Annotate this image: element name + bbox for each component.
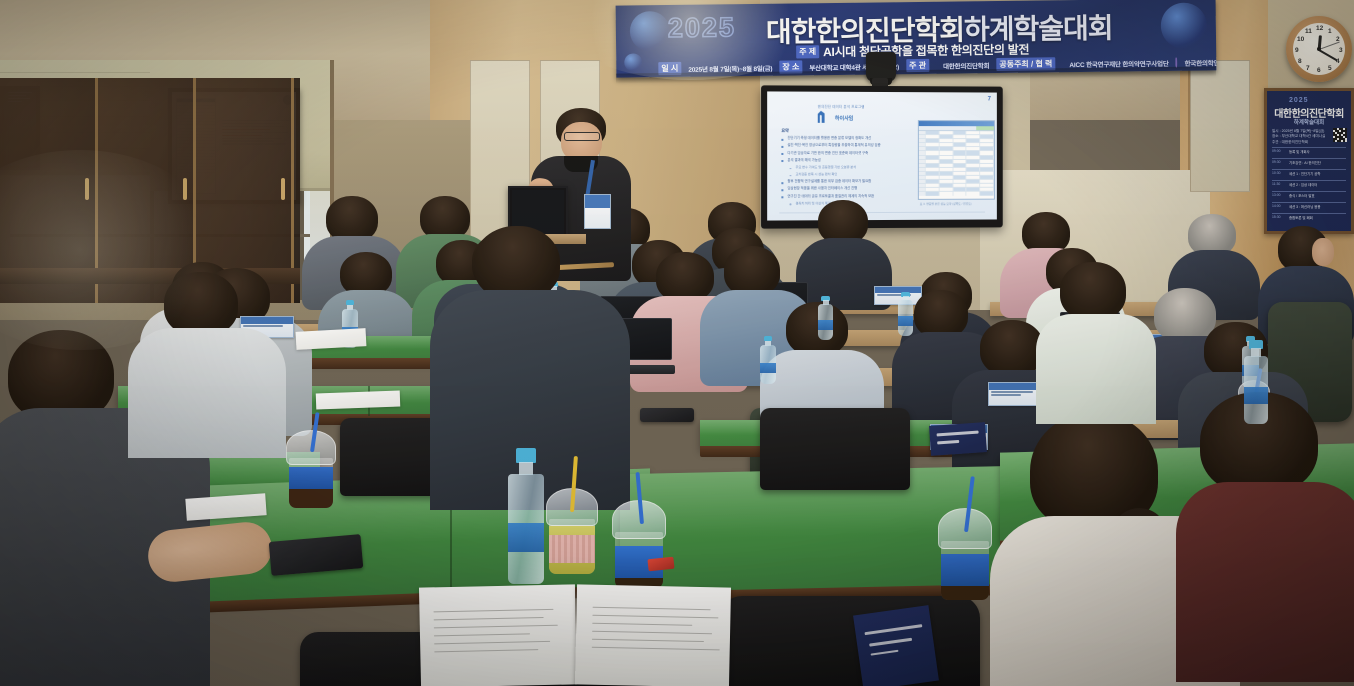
placard-text — [243, 325, 283, 327]
cup-body — [289, 458, 333, 508]
slide-brand-label: 하이사임 — [835, 115, 853, 122]
banner-bubble-small — [624, 53, 642, 71]
slide-eyebrow: 한의진단 데이터 분석 프로그램 — [818, 104, 865, 109]
clock-numeral: 10 — [1297, 36, 1304, 43]
presenter-name-badge — [584, 194, 611, 229]
booklet-title-bar — [865, 624, 923, 635]
poster-row-item: 기조강연 : AI 한의진단 — [1289, 160, 1321, 165]
booklet-title-bar — [937, 440, 960, 445]
water-bottle-foreground[interactable] — [508, 448, 544, 584]
slide-bullet: 임상현장 적용을 위한 사용자 인터페이스 개선 진행 — [781, 186, 902, 191]
clock-numeral: 5 — [1328, 65, 1332, 72]
slide-bullet: 분석 결과의 해석 가능성 — [781, 158, 902, 163]
clock-face: 12 1 2 3 4 5 6 7 8 9 10 11 — [1293, 23, 1345, 75]
attendee-shirt — [128, 328, 286, 458]
slide-heading: 요약 — [781, 128, 788, 134]
banner-bubble-left — [630, 11, 670, 51]
presentation-slide: 7 한의진단 데이터 분석 프로그램 하이사임 요약 진단기기 측정 데이터를 … — [767, 91, 997, 220]
poster-program-row: 09:00 등록 및 개회사 — [1272, 147, 1346, 155]
cup-sleeve — [941, 554, 989, 586]
clock-numeral: 1 — [1328, 28, 1332, 35]
slide-bullet: 향후 전향적 연구설계를 통한 외부 검증 데이터 확보가 필요함 — [781, 179, 902, 184]
poster-row-item: 세션 3 : 머신러닝 응용 — [1289, 204, 1321, 209]
slide-footer-rule — [779, 211, 985, 212]
clock-numeral: 11 — [1305, 28, 1312, 35]
poster-row-time: 09:30 — [1272, 160, 1281, 164]
poster-program-row: 15:30 종합토론 및 폐회 — [1272, 213, 1346, 221]
slide-bullet: 진단기기 측정 데이터를 활용한 변증 분류 모델의 정확도 개선 — [781, 136, 902, 141]
poster-subtitle: 하계학술대회 — [1273, 118, 1345, 126]
slide-bullet-list: 진단기기 측정 데이터를 활용한 변증 분류 모델의 정확도 개선 설진·맥진·… — [781, 136, 902, 208]
poster-row-item: 세션 2 : 임상 데이터 — [1289, 182, 1317, 187]
slide-bullet: 주요 변수 기여도 및 혼동행렬 기반 오분류 분석 — [781, 165, 902, 170]
poster-row-time: 13:00 — [1272, 193, 1281, 197]
poster-row-time: 14:00 — [1272, 204, 1281, 208]
poster-row-time: 10:30 — [1272, 171, 1281, 175]
projection-screen: 7 한의진단 데이터 분석 프로그램 하이사임 요약 진단기기 측정 데이터를 … — [761, 85, 1003, 228]
poster-program-row: 09:30 기조강연 : AI 한의진단 — [1272, 158, 1346, 166]
booklet-title-bar — [936, 431, 979, 437]
cup-body — [549, 519, 595, 574]
water-bottle-row2-c[interactable] — [818, 296, 833, 340]
slide-bullet: 다기관 임상자료 기반 한의 변증 진단 표준화 데이터셋 구축 — [781, 150, 902, 155]
bottle-label — [508, 523, 544, 552]
handout-row2 — [296, 328, 367, 350]
clock-minute-hand — [1319, 49, 1338, 61]
water-bottle-right-fg[interactable] — [1244, 340, 1268, 424]
slide-page-number: 7 — [988, 96, 991, 102]
attendee-shirt — [1176, 482, 1354, 682]
poster-program-row: 14:00 세션 3 : 머신러닝 응용 — [1272, 202, 1346, 210]
slide-data-table — [918, 120, 995, 200]
conference-room-photo: 2025 대한한의진단학회하계학술대회 주 제 AI시대 첨단공학을 접목한 한… — [0, 0, 1354, 686]
handout-row2-b — [316, 391, 401, 410]
poster-info: 일시 : 2025년 8월 7일(목)~8일(금) 장소 : 부산대학교 대학4… — [1272, 129, 1328, 145]
conference-banner: 2025 대한한의진단학회하계학술대회 주 제 AI시대 첨단공학을 접목한 한… — [616, 0, 1217, 78]
banner-topic-tag: 주 제 — [796, 45, 819, 58]
iced-coffee-right[interactable] — [938, 508, 992, 600]
booklet-page-left — [419, 584, 577, 686]
booklet-page-right — [575, 584, 731, 686]
clock-numeral: 9 — [1295, 47, 1299, 54]
placard-text — [991, 394, 1021, 396]
clock-numeral: 12 — [1316, 25, 1323, 32]
iced-coffee-center-right[interactable] — [612, 500, 666, 588]
water-bottle-row2-d[interactable] — [898, 292, 913, 336]
badge-header — [585, 195, 610, 208]
clock-numeral: 7 — [1306, 65, 1310, 72]
open-program-booklet[interactable] — [420, 586, 730, 686]
booklet-title-bar — [869, 638, 912, 647]
program-booklet-row2[interactable] — [929, 422, 987, 456]
program-poster: 2025 대한한의진단학회 하계학술대회 일시 : 2025년 8월 7일(목)… — [1264, 88, 1354, 234]
banner-year: 2025 — [668, 12, 736, 44]
booklet-title-bar — [871, 650, 898, 656]
poster-qr-code-icon — [1333, 128, 1347, 142]
attendee-shirt — [1036, 314, 1156, 424]
poster-program-row: 10:30 세션 1 : 진단기기 공학 — [1272, 169, 1346, 177]
clock-second-hand — [1319, 42, 1340, 50]
poster-row-time: 11:30 — [1272, 182, 1280, 186]
attendee-hair — [164, 272, 238, 336]
poster-year: 2025 — [1289, 97, 1309, 104]
chair-foreground-b[interactable] — [760, 408, 910, 490]
clock-numeral: 6 — [1317, 67, 1321, 74]
water-bottle-row2-g[interactable] — [760, 336, 776, 384]
clock-numeral: 3 — [1339, 47, 1343, 54]
poster-program-row: 13:00 중식 / 포스터 발표 — [1272, 191, 1346, 199]
poster-row-item: 세션 1 : 진단기기 공학 — [1289, 171, 1321, 176]
attendee-hair — [1060, 262, 1126, 320]
poster-row-item: 중식 / 포스터 발표 — [1289, 193, 1315, 198]
slide-brand-logo-icon — [818, 111, 831, 123]
poster-program-row: 11:30 세션 2 : 임상 데이터 — [1272, 180, 1346, 188]
cup-body — [941, 541, 989, 600]
slide-bullet: 연구진 간 데이터 공유 프로토콜과 품질관리 체계의 지속적 보완 — [781, 194, 902, 199]
iced-tea-center[interactable] — [546, 488, 598, 574]
clock-center-pin — [1317, 47, 1321, 51]
slide-table-grid — [919, 131, 994, 196]
presenter-glasses-icon — [564, 132, 600, 141]
placard-header — [241, 317, 293, 324]
poster-row-time: 15:30 — [1272, 215, 1281, 219]
poster-row-item: 종합토론 및 폐회 — [1289, 215, 1313, 220]
attendee-hair — [474, 226, 560, 300]
chair-foreground-d[interactable] — [720, 596, 980, 686]
poster-info-line: 주관 : 대한한의진단학회 — [1272, 140, 1328, 145]
slide-table-caption: 표 3. 변증별 분류 성능 요약 (정확도 / 민감도) — [920, 202, 972, 206]
wall-clock: 12 1 2 3 4 5 6 7 8 9 10 11 — [1286, 16, 1352, 82]
slide-bullet: 설진·맥진·복진 영상으로부터 특징량을 추출하여 통계적 유의성 검증 — [781, 143, 902, 148]
poster-row-item: 등록 및 개회사 — [1289, 149, 1310, 154]
program-booklet-right[interactable] — [853, 605, 939, 686]
smartphone-on-desk-row2[interactable] — [640, 408, 694, 422]
slide-bullet: 교차검증 반복 시 성능 편차 확인 — [781, 172, 902, 177]
cup-sleeve — [549, 535, 595, 563]
placard-header — [989, 383, 1043, 390]
poster-row-time: 09:00 — [1272, 149, 1281, 153]
poster-info-line: 장소 : 부산대학교 대학4관 세미나실 — [1272, 134, 1328, 139]
iced-coffee-left[interactable] — [286, 430, 336, 508]
banner-bubble-right — [1161, 2, 1208, 49]
clock-numeral: 8 — [1298, 58, 1302, 65]
bottle-body — [508, 474, 544, 584]
cup-sleeve — [289, 467, 333, 489]
placard-text — [991, 391, 1033, 393]
wall-panel-c — [1190, 60, 1250, 192]
